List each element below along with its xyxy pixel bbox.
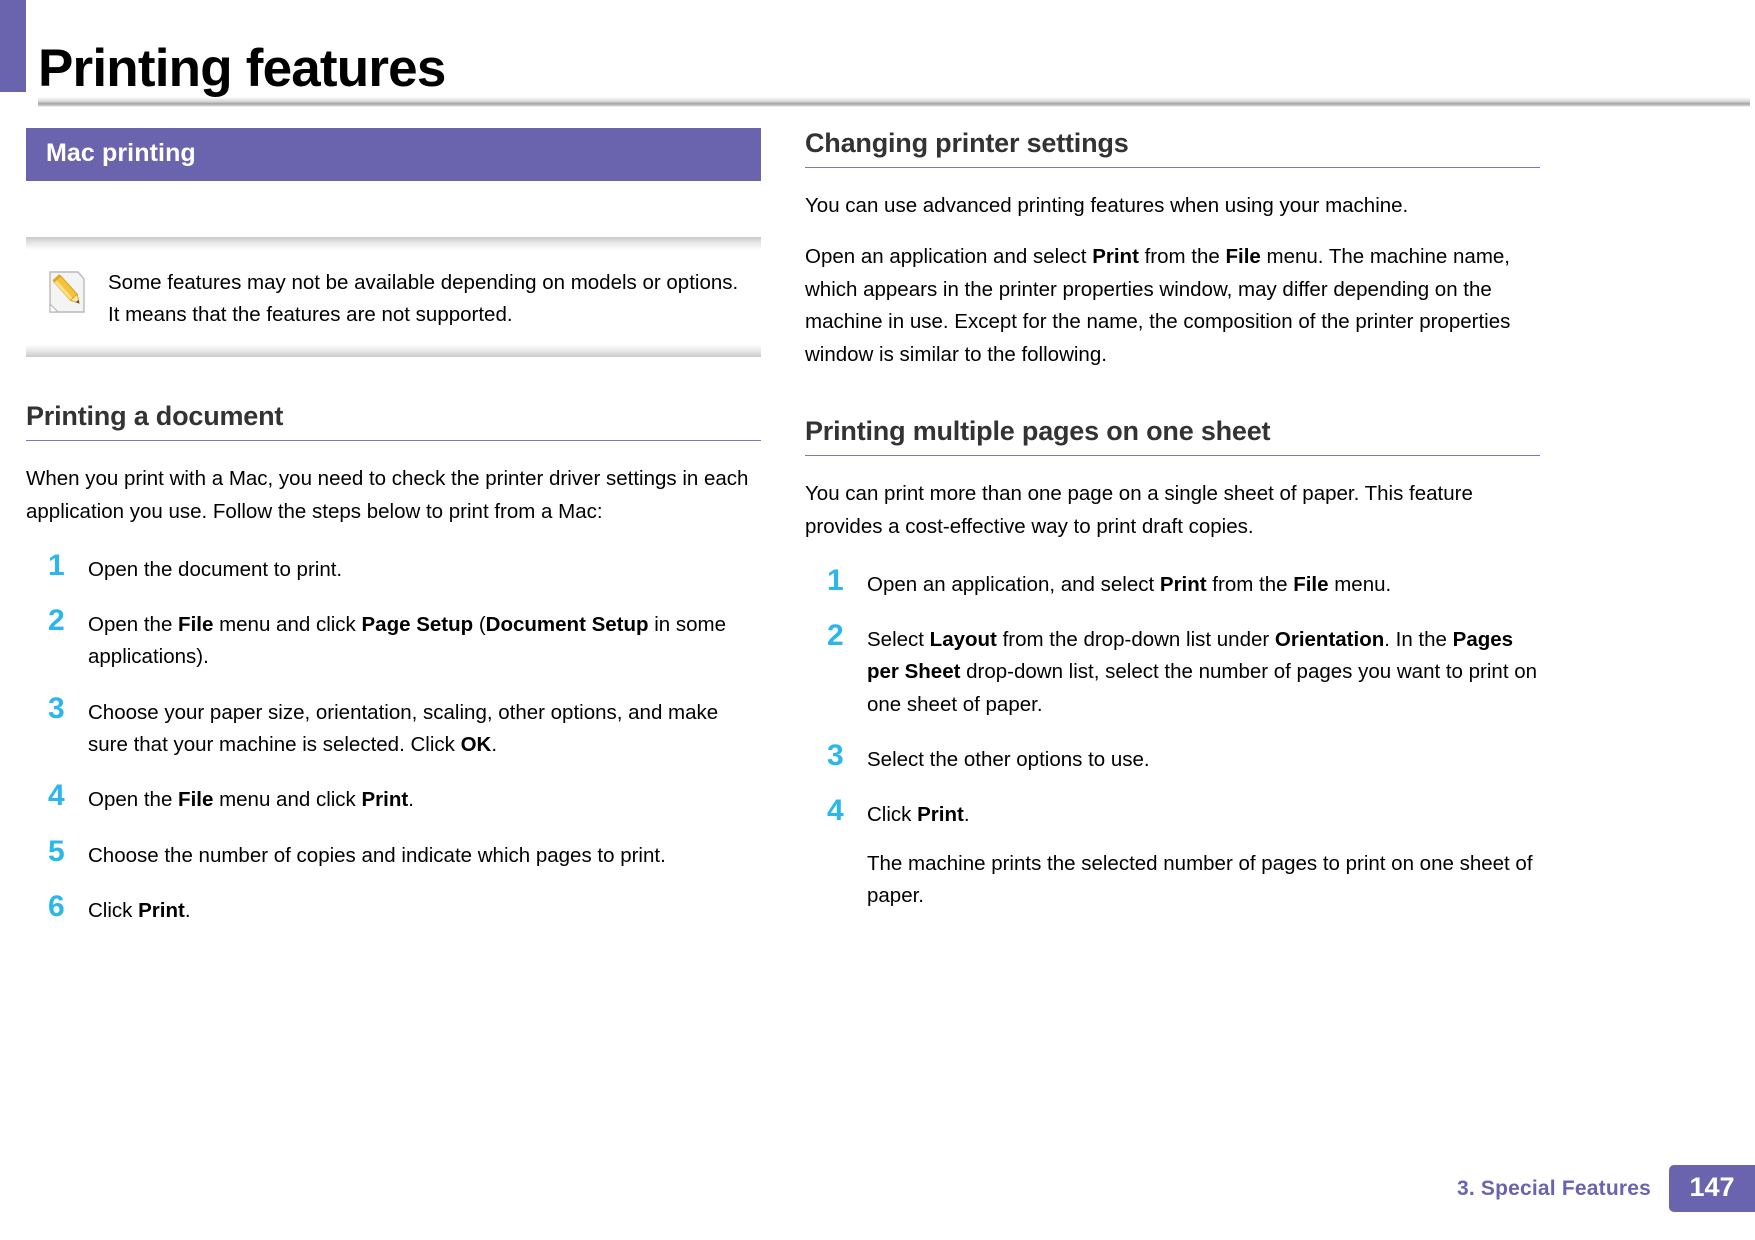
subsection-heading-rule — [805, 167, 1540, 168]
right-column: Changing printer settings You can use ad… — [805, 128, 1540, 933]
subsection-heading: Printing a document — [26, 401, 761, 440]
note-bottom-divider — [26, 344, 761, 357]
step-number: 1 — [805, 566, 867, 597]
step-number: 4 — [26, 781, 88, 812]
subsection-printing-a-document: Printing a document When you print with … — [26, 401, 761, 928]
steps-list-printing-a-document: 1Open the document to print.2Open the Fi… — [26, 551, 761, 928]
subsection-intro: You can print more than one page on a si… — [805, 478, 1540, 544]
step-text: Open the File menu and click Print. — [88, 781, 761, 816]
step-item: 3Choose your paper size, orientation, sc… — [26, 694, 761, 762]
body-paragraph: Open an application and select Print fro… — [805, 241, 1540, 372]
step-text: Open the File menu and click Page Setup … — [88, 606, 761, 674]
note-box: Some features may not be available depen… — [26, 237, 761, 357]
title-accent-bar — [0, 0, 26, 92]
subsection-printing-multiple-pages: Printing multiple pages on one sheet You… — [805, 416, 1540, 913]
step-number: 5 — [26, 837, 88, 868]
step-number: 2 — [26, 606, 88, 637]
footer-chapter-label: 3. Special Features — [1457, 1177, 1669, 1201]
step-text: Select the other options to use. — [867, 741, 1540, 776]
footer-page-number: 147 — [1669, 1165, 1755, 1212]
step-item: 3Select the other options to use. — [805, 741, 1540, 776]
step-item: 4Click Print.The machine prints the sele… — [805, 796, 1540, 912]
subsection-heading-rule — [26, 440, 761, 441]
note-text: Some features may not be available depen… — [108, 267, 741, 331]
step-text: Select Layout from the drop-down list un… — [867, 621, 1540, 721]
subsection-heading-rule — [805, 455, 1540, 456]
step-number: 2 — [805, 621, 867, 652]
step-text: Click Print.The machine prints the selec… — [867, 796, 1540, 912]
subsection-heading: Printing multiple pages on one sheet — [805, 416, 1540, 455]
step-text: Open the document to print. — [88, 551, 761, 586]
step-number: 1 — [26, 551, 88, 582]
step-item: 6Click Print. — [26, 892, 761, 927]
step-text: Open an application, and select Print fr… — [867, 566, 1540, 601]
subsection-heading: Changing printer settings — [805, 128, 1540, 167]
step-item: 2Open the File menu and click Page Setup… — [26, 606, 761, 674]
steps-list-printing-multiple-pages: 1Open an application, and select Print f… — [805, 566, 1540, 913]
step-number: 6 — [26, 892, 88, 923]
step-number: 3 — [805, 741, 867, 772]
page-title: Printing features — [38, 38, 446, 101]
subsection-changing-printer-settings: Changing printer settings You can use ad… — [805, 128, 1540, 372]
step-item: 4Open the File menu and click Print. — [26, 781, 761, 816]
settings-paragraphs: You can use advanced printing features w… — [805, 190, 1540, 372]
section-band-mac-printing: Mac printing — [26, 128, 761, 181]
step-text: Choose your paper size, orientation, sca… — [88, 694, 761, 762]
body-paragraph: You can use advanced printing features w… — [805, 190, 1540, 223]
title-divider — [38, 97, 1750, 107]
note-pencil-icon — [48, 270, 86, 314]
step-item: 1Open the document to print. — [26, 551, 761, 586]
step-item: 2Select Layout from the drop-down list u… — [805, 621, 1540, 721]
step-item: 5Choose the number of copies and indicat… — [26, 837, 761, 872]
step-number: 4 — [805, 796, 867, 827]
page-footer: 3. Special Features 147 — [1457, 1165, 1755, 1212]
note-top-divider — [26, 237, 761, 250]
subsection-intro: When you print with a Mac, you need to c… — [26, 463, 761, 529]
step-followup-note: The machine prints the selected number o… — [867, 848, 1540, 913]
step-text: Click Print. — [88, 892, 761, 927]
step-number: 3 — [26, 694, 88, 725]
step-text: Choose the number of copies and indicate… — [88, 837, 761, 872]
left-column: Mac printing Some features may not be a — [26, 128, 761, 948]
step-item: 1Open an application, and select Print f… — [805, 566, 1540, 601]
